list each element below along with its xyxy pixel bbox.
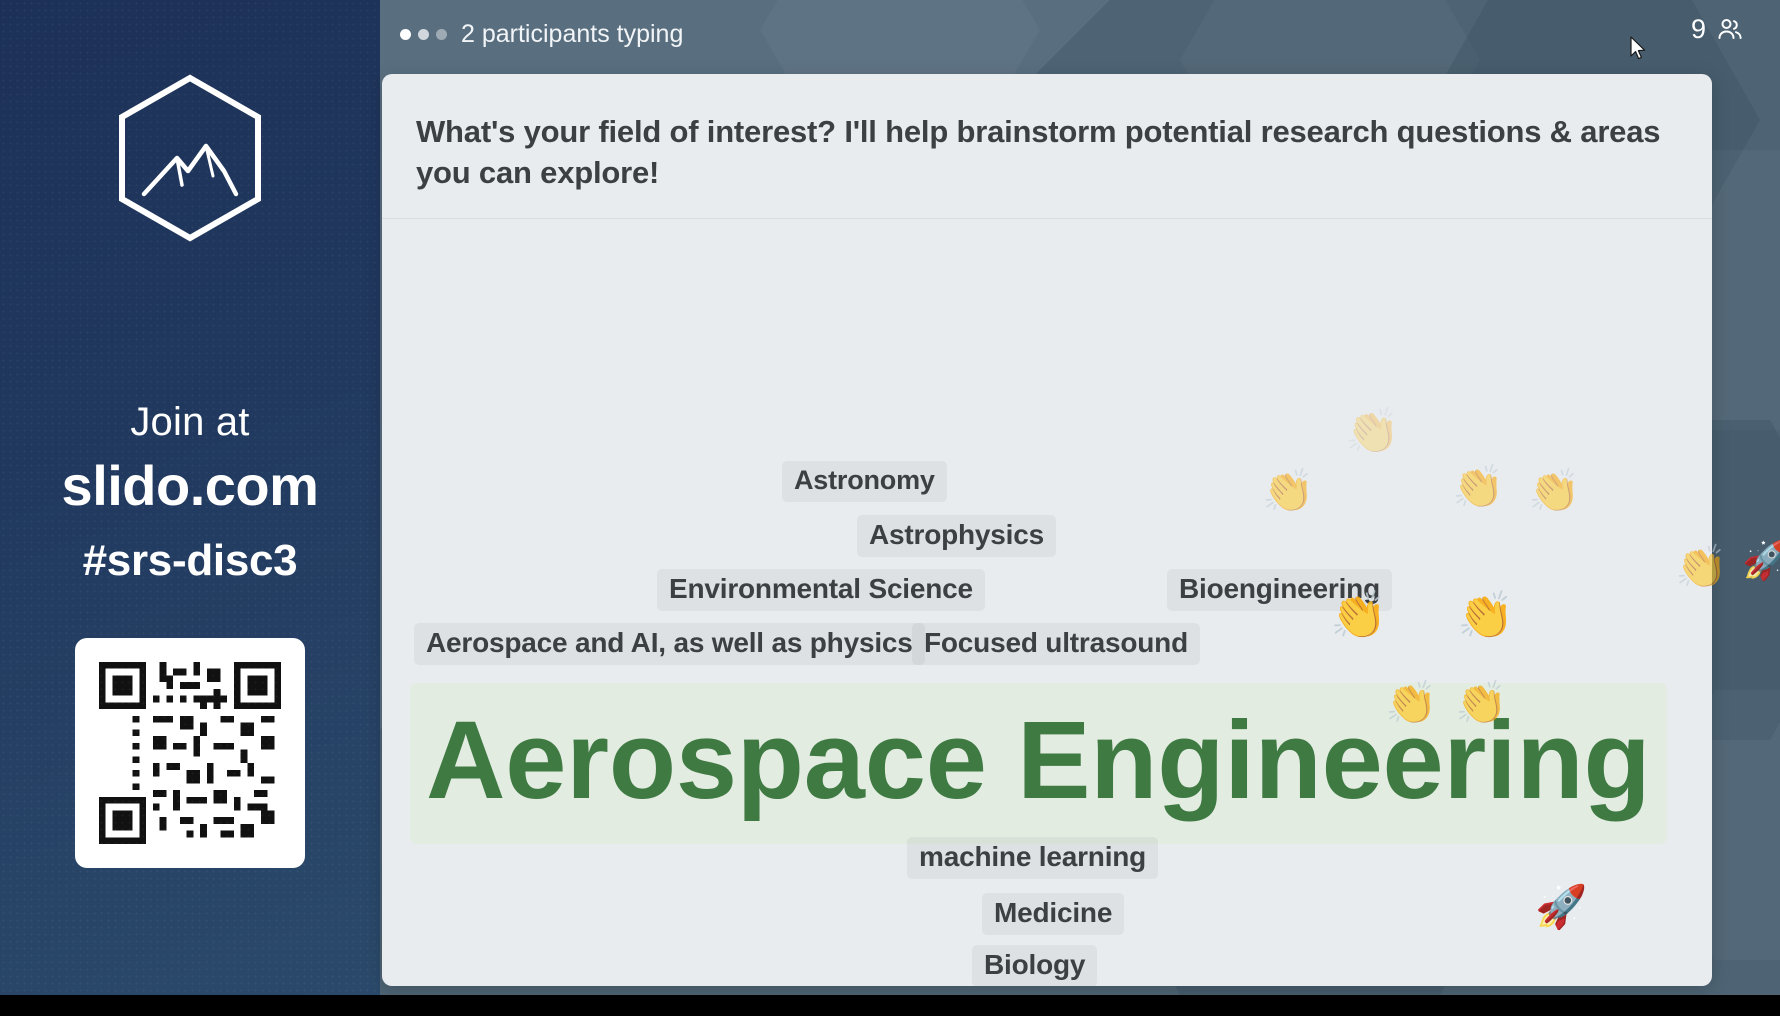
clapping-hands-emoji: 👏 xyxy=(1262,470,1314,512)
people-icon xyxy=(1716,16,1744,44)
qr-code-card[interactable] xyxy=(75,638,305,868)
clapping-hands-emoji: 👏 xyxy=(1457,592,1514,638)
mouse-cursor-icon xyxy=(1630,36,1648,62)
slido-wordcloud-screen: Join at slido.com #srs-disc3 xyxy=(0,0,1780,1016)
clapping-hands-emoji: 👏 xyxy=(1452,466,1504,508)
clapping-hands-emoji: 👏 xyxy=(1675,546,1727,588)
event-sidebar: Join at slido.com #srs-disc3 xyxy=(0,0,380,995)
participant-counter[interactable]: 9 xyxy=(1691,14,1744,45)
poll-header: What's your field of interest? I'll help… xyxy=(382,74,1712,219)
participant-count: 9 xyxy=(1691,14,1706,45)
clapping-hands-emoji: 👏 xyxy=(1345,410,1400,454)
rocket-emoji: 🚀 xyxy=(1535,886,1587,928)
word-cloud-entry[interactable]: Medicine xyxy=(982,893,1124,935)
hexagon-mountain-logo-icon xyxy=(114,72,266,244)
word-cloud-entry[interactable]: Biology xyxy=(972,945,1097,986)
clapping-hands-emoji: 👏 xyxy=(1330,592,1387,638)
word-cloud: AstronomyAstrophysicsEnvironmental Scien… xyxy=(382,219,1712,903)
qr-code-icon xyxy=(92,655,288,851)
poll-card: What's your field of interest? I'll help… xyxy=(382,74,1712,986)
word-cloud-entry[interactable]: Environmental Science xyxy=(657,569,985,611)
word-cloud-entry[interactable]: Focused ultrasound xyxy=(912,623,1200,665)
brand-logo xyxy=(0,72,380,244)
poll-question: What's your field of interest? I'll help… xyxy=(416,112,1678,194)
join-url: slido.com xyxy=(0,454,380,518)
rocket-emoji: 🚀 xyxy=(1742,542,1780,580)
typing-indicator: 2 participants typing xyxy=(400,14,683,54)
event-code: #srs-disc3 xyxy=(0,536,380,586)
typing-dots-icon xyxy=(400,29,447,40)
typing-status-text: 2 participants typing xyxy=(461,20,683,49)
join-label: Join at xyxy=(0,400,380,444)
word-cloud-entry[interactable]: Aerospace and AI, as well as physics xyxy=(414,623,925,665)
bottom-letterbox xyxy=(0,995,1780,1016)
word-cloud-entry[interactable]: Astronomy xyxy=(782,461,947,502)
word-cloud-entry[interactable]: Astrophysics xyxy=(857,515,1056,557)
join-instructions: Join at slido.com #srs-disc3 xyxy=(0,400,380,586)
clapping-hands-emoji: 👏 xyxy=(1385,682,1437,724)
word-cloud-entry[interactable]: machine learning xyxy=(907,837,1158,879)
clapping-hands-emoji: 👏 xyxy=(1528,470,1580,512)
clapping-hands-emoji: 👏 xyxy=(1455,682,1507,724)
